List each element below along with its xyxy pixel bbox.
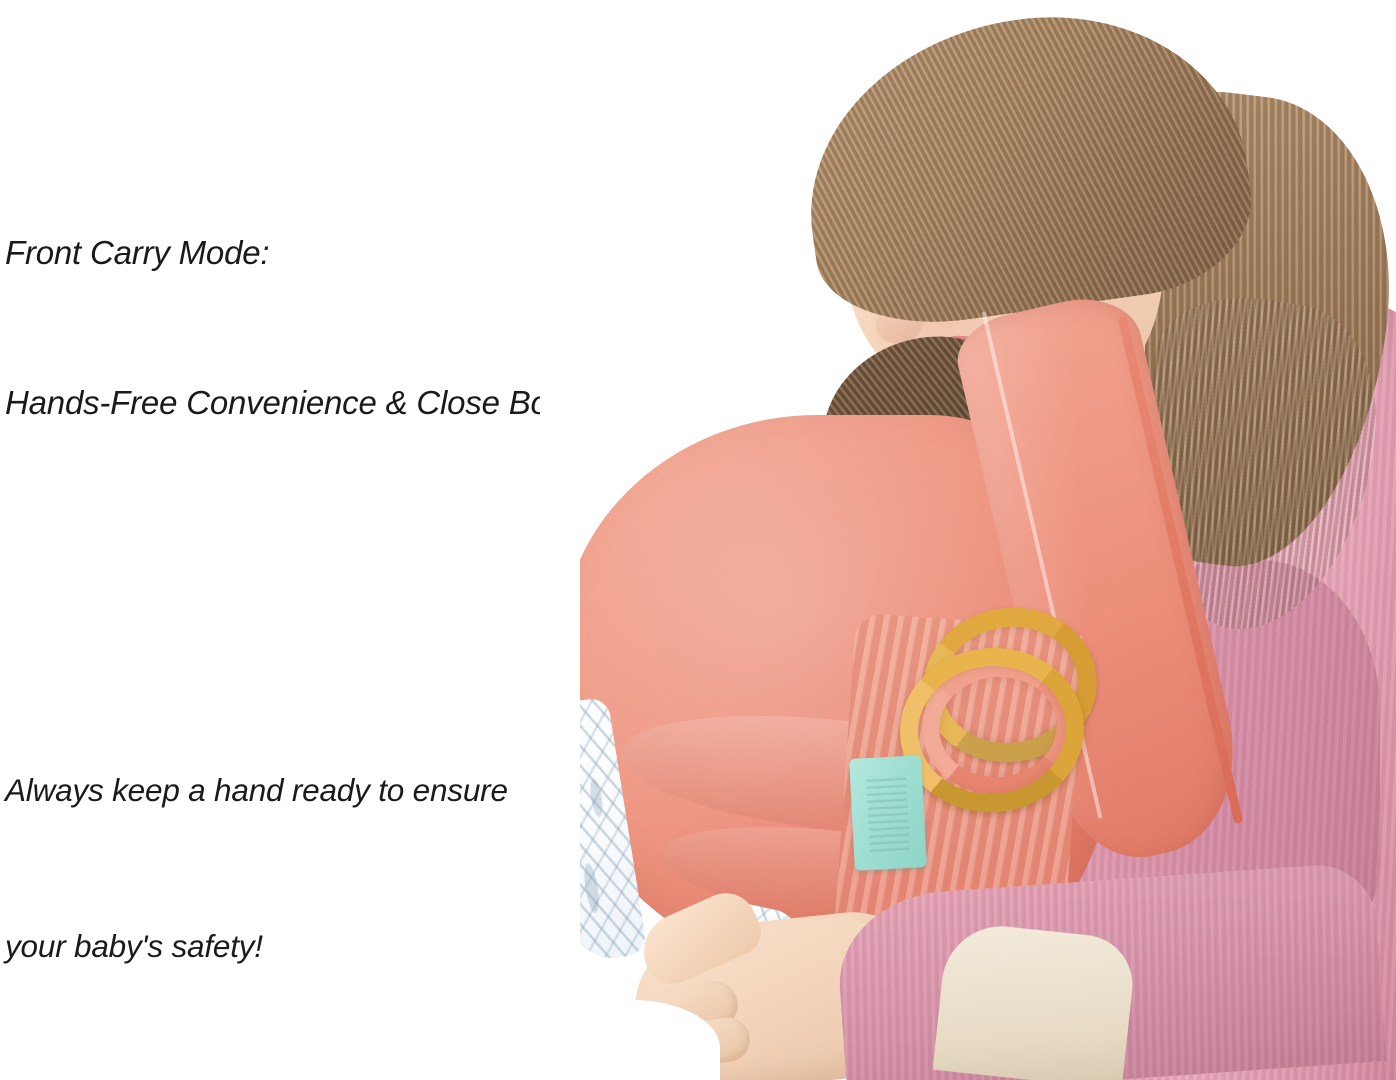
caption-bottom-line-2: your baby's safety! — [5, 920, 508, 972]
caption-top-line-2: Hands-Free Convenience & Close Bonding — [5, 378, 628, 428]
brand-label-tag — [849, 755, 927, 871]
caption-bottom-line-1: Always keep a hand ready to ensure — [5, 764, 508, 816]
caption-top-line-1: Front Carry Mode: — [5, 228, 628, 278]
photo-left-white-cutout — [540, 0, 580, 1080]
caption-front-carry-mode: Front Carry Mode: Hands-Free Convenience… — [5, 128, 628, 528]
caption-safety-reminder: Always keep a hand ready to ensure your … — [5, 660, 508, 1076]
product-lifestyle-photo — [540, 0, 1396, 1080]
marketing-image-page: Front Carry Mode: Hands-Free Convenience… — [0, 0, 1396, 1080]
baby-lower-body-wrap — [933, 920, 1138, 1080]
